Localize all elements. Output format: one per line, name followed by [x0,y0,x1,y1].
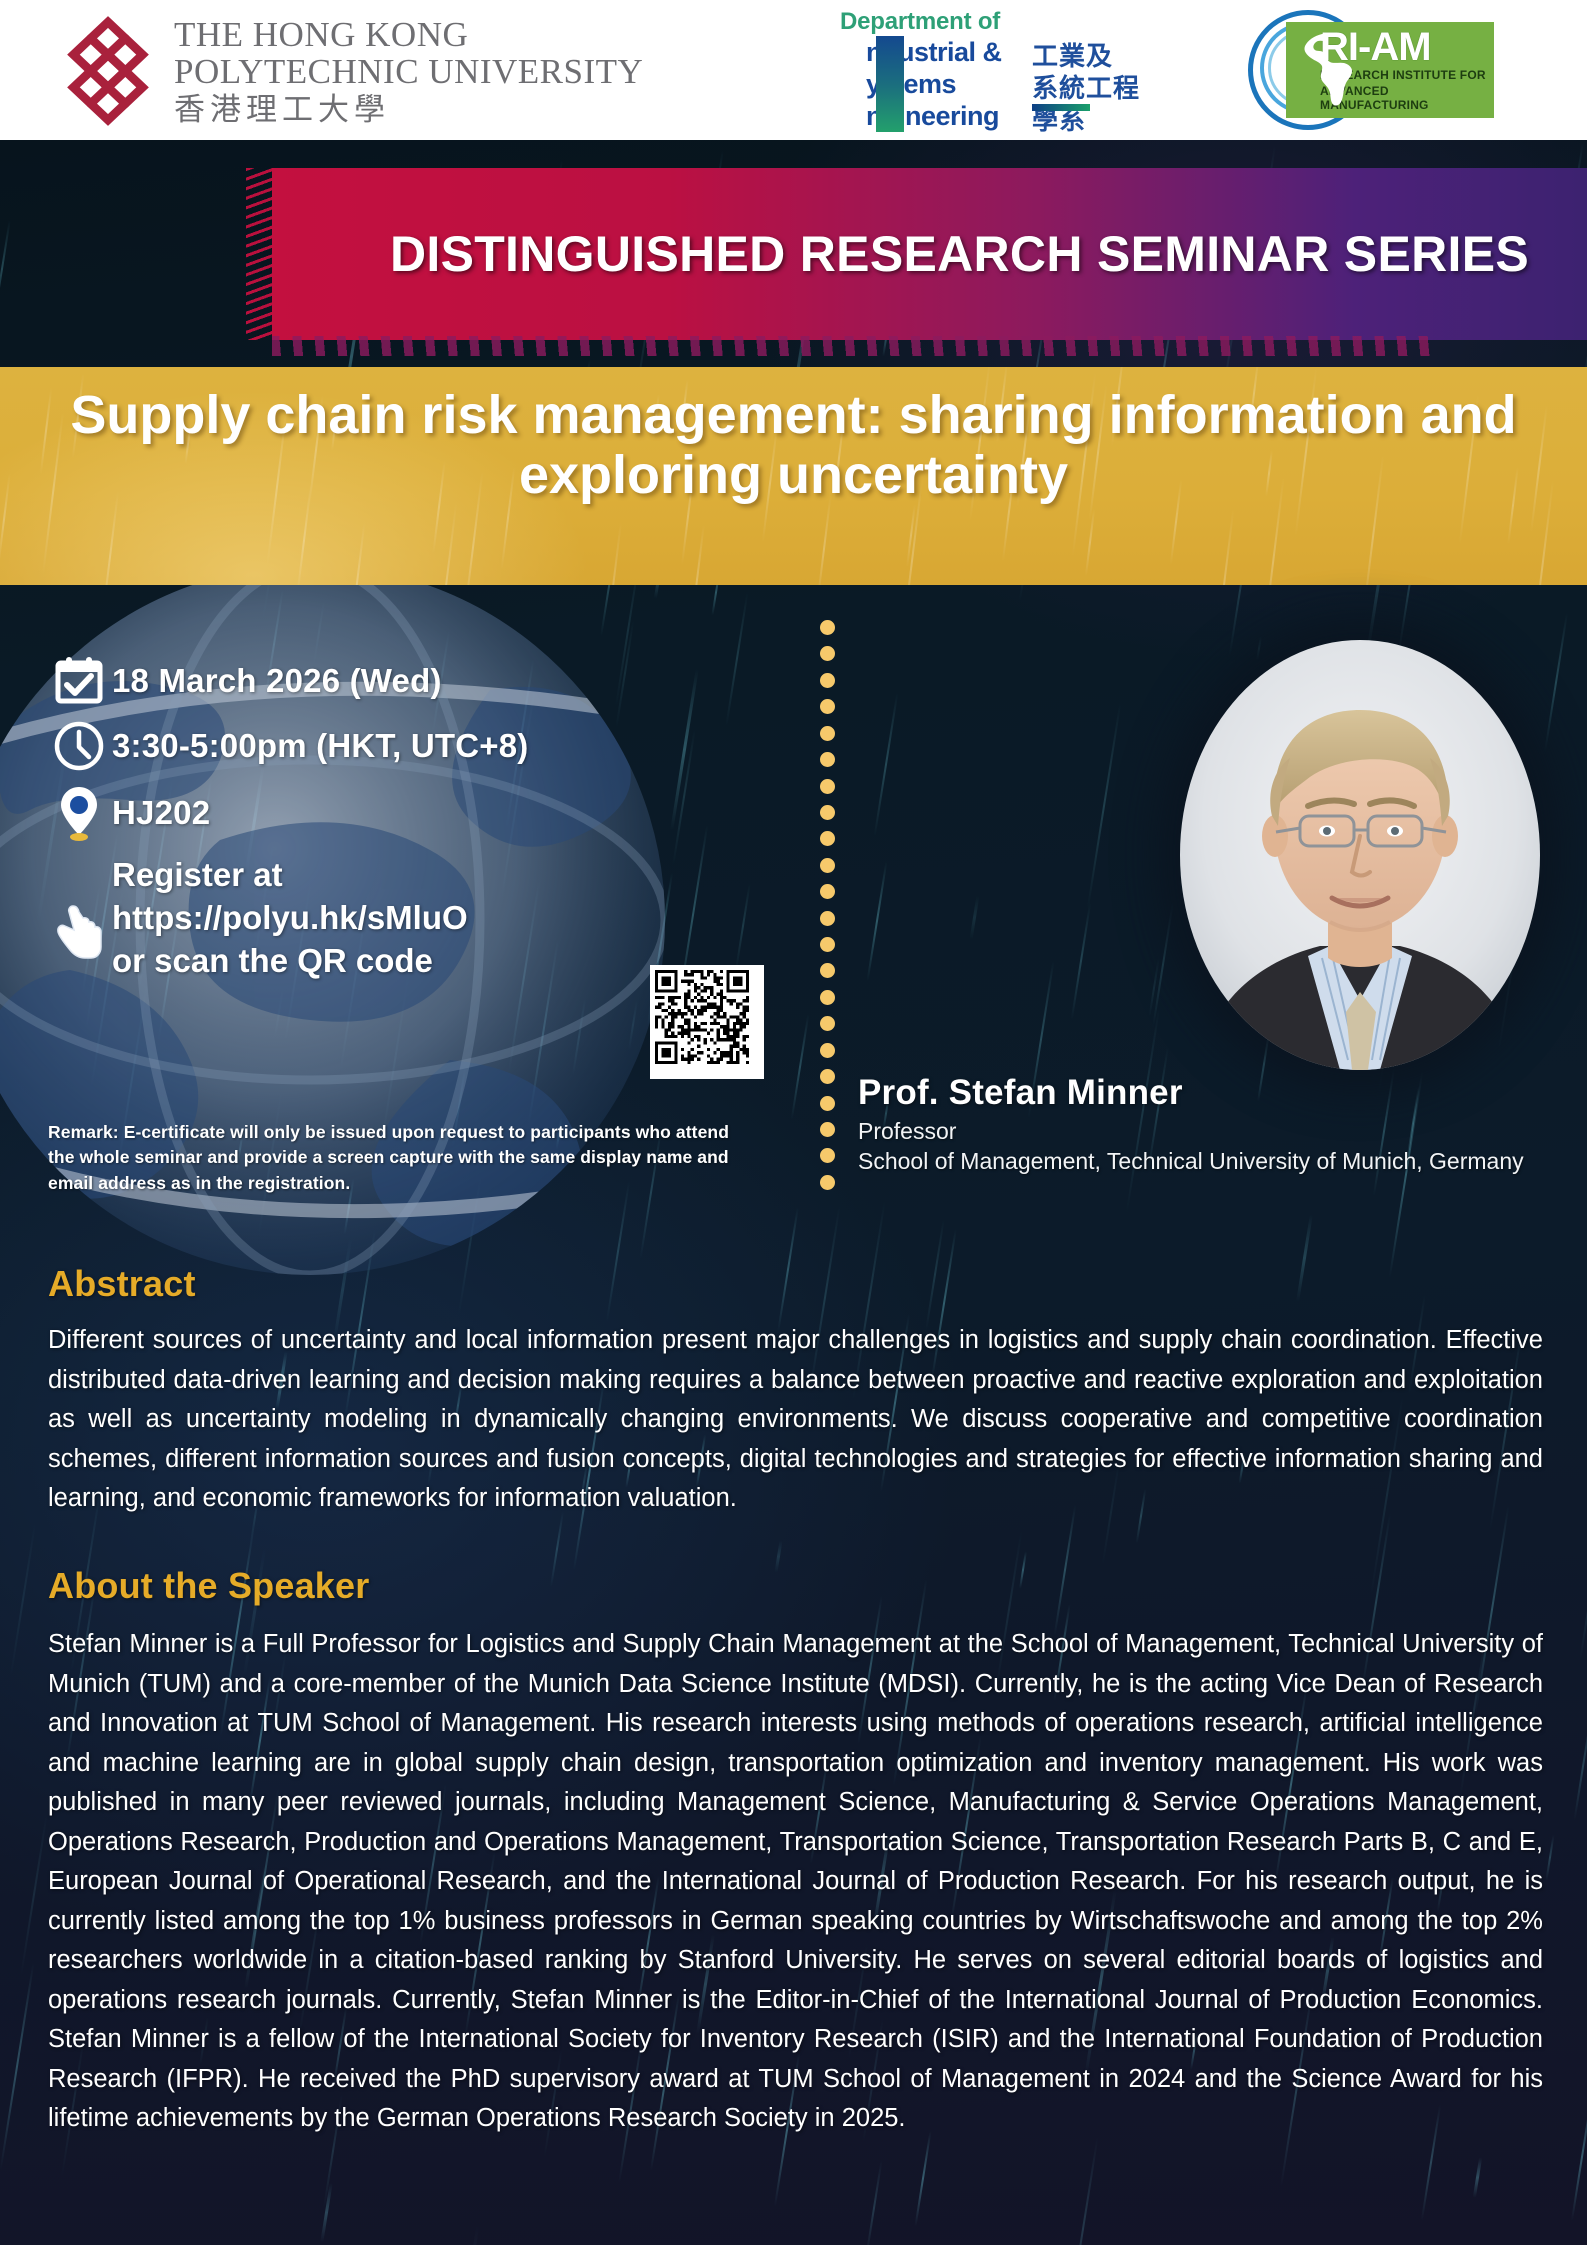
register-line-1: Register at [112,854,468,897]
divider-dot [820,1175,835,1190]
polyu-name-line1: THE HONG KONG [174,17,643,52]
qr-code-matrix [655,970,749,1064]
polyu-name-line2: POLYTECHNIC UNIVERSITY [174,54,643,89]
ise-letter-e: E [838,101,866,132]
ise-letter-s: S [838,69,866,100]
divider-dot [820,805,835,820]
speaker-photo [1180,640,1540,1080]
seminar-title: Supply chain risk management: sharing in… [48,385,1539,506]
seminar-poster: THE HONG KONG POLYTECHNIC UNIVERSITY 香港理… [0,0,1587,2245]
clock-icon [46,720,112,772]
title-band: Supply chain risk management: sharing in… [0,367,1587,585]
event-time: 3:30-5:00pm (HKT, UTC+8) [112,727,528,765]
speaker-info: Prof. Stefan Minner Professor School of … [858,1073,1578,1177]
riam-logo: RI-AM RESEARCH INSTITUTE FOR ADVANCED MA… [1248,8,1498,132]
abstract-heading: Abstract [48,1263,1543,1305]
abstract-section: Abstract Different sources of uncertaint… [48,1263,1543,1519]
register-text[interactable]: Register at https://polyu.hk/sMluO or sc… [112,854,468,983]
register-line-3: or scan the QR code [112,940,468,983]
event-venue: HJ202 [112,794,210,832]
divider-dot [820,1069,835,1084]
remark-note: Remark: E-certificate will only be issue… [48,1120,748,1196]
divider-dot [820,831,835,846]
calendar-check-icon [46,655,112,707]
event-details: 18 March 2026 (Wed) 3:30-5:00pm (HKT, UT… [46,655,746,996]
dotted-divider [820,620,836,1190]
globe-americas-icon [1292,30,1366,110]
event-date: 18 March 2026 (Wed) [112,662,442,700]
register-url[interactable]: https://polyu.hk/sMluO [112,897,468,940]
divider-dot [820,620,835,635]
speaker-affiliation: School of Management, Technical Universi… [858,1146,1578,1176]
divider-dot [820,1096,835,1111]
divider-dot [820,884,835,899]
divider-dot [820,963,835,978]
detail-row-venue: HJ202 [46,785,746,841]
about-speaker-section: About the Speaker Stefan Minner is a Ful… [48,1565,1543,2139]
polyu-logo: THE HONG KONG POLYTECHNIC UNIVERSITY 香港理… [60,16,643,126]
divider-dot [820,1122,835,1137]
abstract-text: Different sources of uncertainty and loc… [48,1321,1543,1519]
detail-row-date: 18 March 2026 (Wed) [46,655,746,707]
about-speaker-text: Stefan Minner is a Full Professor for Lo… [48,1625,1543,2139]
ise-dash-divider [1032,104,1090,111]
speaker-portrait [1180,640,1540,1070]
divider-dot [820,1148,835,1163]
divider-dot [820,1043,835,1058]
ise-chinese-name: 工業及 系統工程 學系 [1032,40,1140,136]
ise-chinese-line1: 工業及 [1032,40,1140,72]
speaker-portrait-image [1180,640,1540,1070]
ise-letter-i: I [838,37,866,68]
pointing-hand-icon [46,854,112,962]
ise-letter-gradient-bar [876,36,904,132]
ise-department-logo: Department of I ndustrial & S ystems E n… [800,8,1170,134]
divider-dot [820,858,835,873]
polyu-knot-icon [60,16,156,126]
logo-header: THE HONG KONG POLYTECHNIC UNIVERSITY 香港理… [0,0,1587,140]
divider-dot [820,779,835,794]
map-pin-icon [46,785,112,841]
polyu-name-chinese: 香港理工大學 [174,94,643,125]
divider-dot [820,1016,835,1031]
divider-dot [820,699,835,714]
ise-chinese-line2: 系統工程 [1032,72,1140,104]
divider-dot [820,726,835,741]
divider-dot [820,937,835,952]
divider-dot [820,646,835,661]
speaker-role: Professor [858,1116,1578,1146]
speaker-name: Prof. Stefan Minner [858,1073,1578,1113]
ise-department-of-label: Department of [840,8,1170,36]
series-title: DISTINGUISHED RESEARCH SEMINAR SERIES [0,140,1587,367]
divider-dot [820,990,835,1005]
detail-row-register[interactable]: Register at https://polyu.hk/sMluO or sc… [46,854,746,983]
divider-dot [820,911,835,926]
detail-row-time: 3:30-5:00pm (HKT, UTC+8) [46,720,746,772]
qr-code-icon[interactable] [650,965,764,1079]
divider-dot [820,673,835,688]
series-banner: DISTINGUISHED RESEARCH SEMINAR SERIES [0,140,1587,367]
about-speaker-heading: About the Speaker [48,1565,1543,1607]
divider-dot [820,752,835,767]
